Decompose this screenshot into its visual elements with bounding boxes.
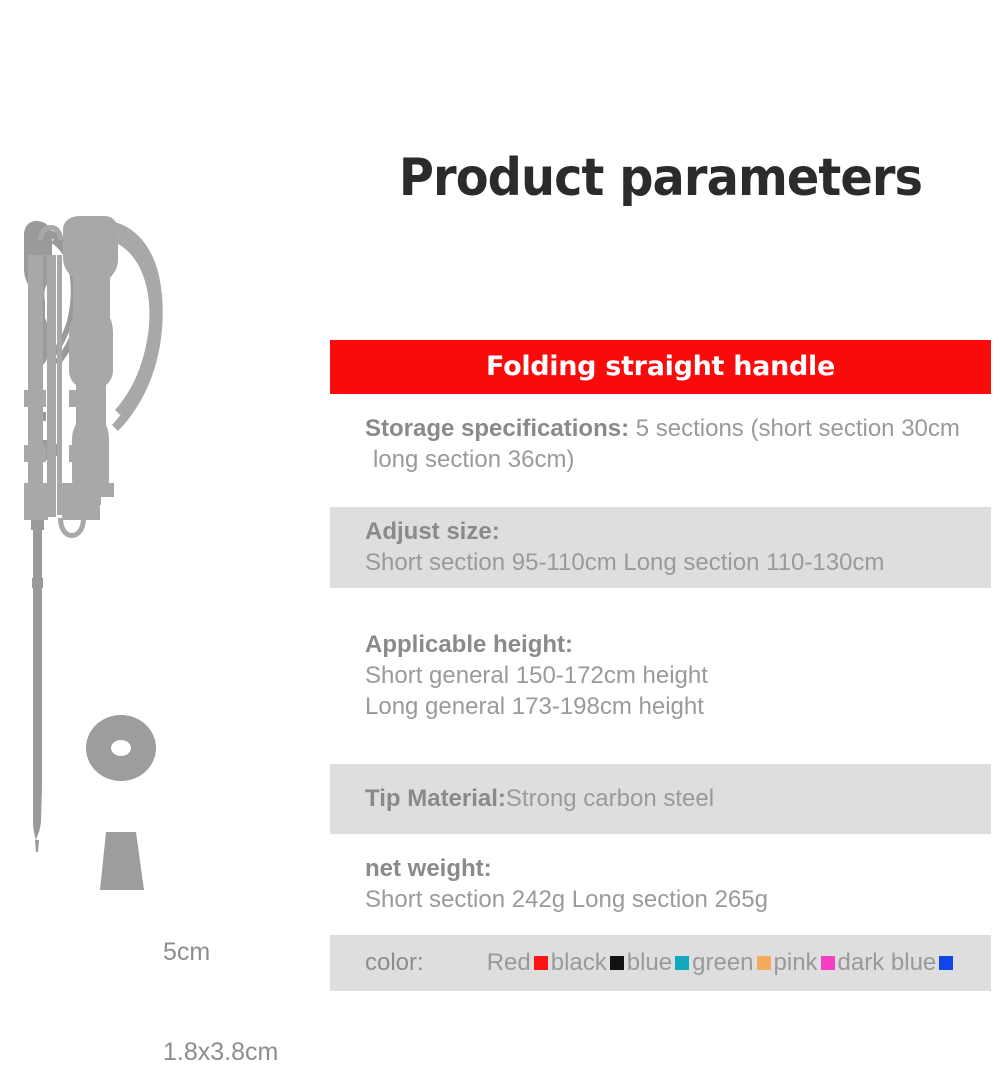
color-swatch-list: Redblackbluegreenpinkdark blue (486, 949, 956, 977)
color-swatch-black[interactable] (610, 956, 624, 970)
color-swatch-green[interactable] (757, 956, 771, 970)
spec-label-applicable-height: Applicable height: (365, 631, 573, 658)
color-swatch-blue[interactable] (675, 956, 689, 970)
spec-row-storage-specifications: Storage specifications: 5 sections (shor… (330, 404, 991, 485)
pole-tip-icon (100, 832, 144, 890)
spec-value-storage: 5 sections (short section 30cm (629, 415, 960, 442)
spec-value-adjust-size: Short section 95-110cm Long section 110-… (365, 549, 884, 576)
page-title: Product parameters (356, 142, 964, 214)
spec-value-net-weight: Short section 242g Long section 265g (365, 886, 768, 913)
spec-label-net-weight: net weight: (365, 855, 492, 882)
spacer (330, 485, 991, 507)
color-option-label-green[interactable]: green (691, 949, 754, 977)
spacer (330, 394, 991, 404)
spec-row-applicable-height: Applicable height: Short general 150-172… (330, 620, 991, 732)
spec-row-tip-material: Tip Material:Strong carbon steel (330, 764, 991, 834)
spec-label-adjust-size: Adjust size: (365, 518, 500, 545)
spec-value-storage-line2: long section 36cm) (373, 446, 574, 473)
color-swatch-Red[interactable] (534, 956, 548, 970)
basket-size-caption: 5cm (163, 938, 210, 967)
color-option-label-pink[interactable]: pink (773, 949, 819, 977)
color-option-label-dark-blue[interactable]: dark blue (837, 949, 938, 977)
spacer (330, 732, 991, 764)
color-option-label-Red[interactable]: Red (486, 949, 532, 977)
spec-row-color: color: Redblackbluegreenpinkdark blue (330, 935, 991, 991)
snow-basket-icon (86, 715, 156, 781)
tip-size-caption: 1.8x3.8cm (163, 1038, 278, 1067)
color-swatch-pink[interactable] (821, 956, 835, 970)
spacer (330, 834, 991, 844)
spec-table-header: Folding straight handle (330, 340, 991, 394)
color-option-label-blue[interactable]: blue (626, 949, 673, 977)
spec-value-tip-material: Strong carbon steel (506, 785, 714, 812)
product-parameters-page: Product parameters (0, 0, 1002, 1002)
spacer (330, 925, 991, 935)
spec-label-color: color: (330, 949, 424, 977)
color-swatch-dark-blue[interactable] (939, 956, 953, 970)
color-option-label-black[interactable]: black (550, 949, 608, 977)
spec-value-applicable-height-long: Long general 173-198cm height (365, 693, 704, 720)
spec-row-adjust-size: Adjust size: Short section 95-110cm Long… (330, 507, 991, 588)
spec-value-applicable-height-short: Short general 150-172cm height (365, 662, 708, 689)
product-illustration: 5cm 1.8x3.8cm (0, 200, 320, 890)
spacer (330, 588, 991, 620)
spec-label-storage: Storage specifications: (365, 415, 629, 442)
spec-row-net-weight: net weight: Short section 242g Long sect… (330, 844, 991, 925)
spec-table: Folding straight handle Storage specific… (330, 340, 991, 991)
spec-label-tip-material: Tip Material: (365, 785, 506, 812)
